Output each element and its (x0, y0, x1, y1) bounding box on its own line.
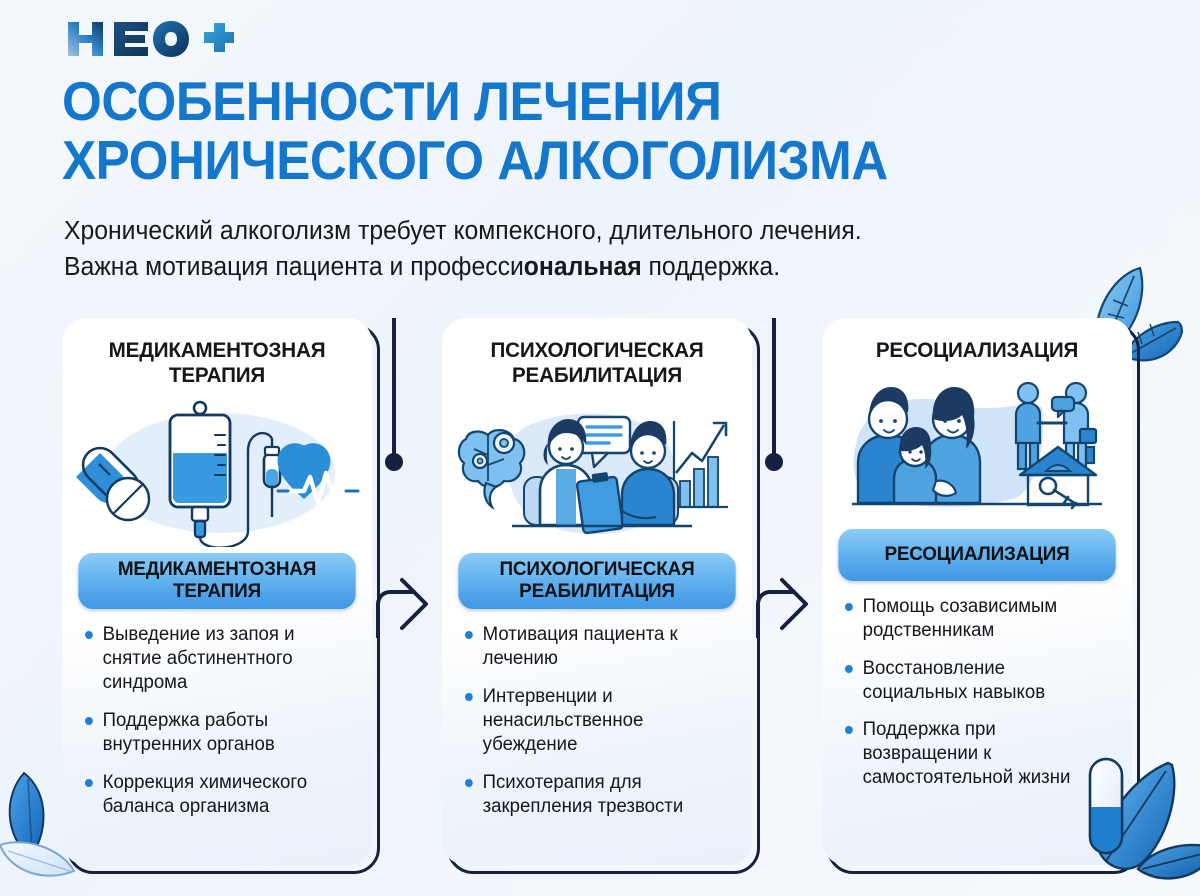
clipboard-icon (577, 472, 624, 534)
list-item: Мотивация пациента к лечению (463, 623, 730, 671)
neo-plus-logo-icon (64, 16, 234, 62)
growth-chart-icon (674, 421, 728, 507)
card-title: МЕДИКАМЕНТОЗНАЯ ТЕРАПИЯ (82, 338, 353, 387)
card-badge[interactable]: РЕСОЦИАЛИЗАЦИЯ (838, 529, 1115, 581)
stage-card-medication-therapy[interactable]: МЕДИКАМЕНТОЗНАЯ ТЕРАПИЯ (62, 318, 380, 874)
psychological-rehab-illustration (452, 395, 742, 547)
list-item: Восстановление социальных навыков (843, 657, 1110, 705)
card-title: ПСИХОЛОГИЧЕСКАЯ РЕАБИЛИТАЦИЯ (462, 338, 733, 387)
page-subtitle-line-1: Хронический алкоголизм требует компексно… (64, 217, 862, 245)
connector-endpoint-dot (385, 453, 403, 471)
list-item: Поддержка работы внутренних органов (83, 709, 350, 757)
card-badge[interactable]: ПСИХОЛОГИЧЕСКАЯ РЕАБИЛИТАЦИЯ (458, 553, 735, 609)
page-subtitle-line-2-post: поддержка. (642, 253, 780, 281)
connector-arrow-2-to-3 (752, 318, 826, 643)
treatment-stages-row: МЕДИКАМЕНТОЗНАЯ ТЕРАПИЯ (0, 318, 1200, 878)
stage-card-psychological-rehabilitation[interactable]: ПСИХОЛОГИЧЕСКАЯ РЕАБИЛИТАЦИЯ (442, 318, 760, 874)
stage-card-resocialization[interactable]: РЕСОЦИАЛИЗАЦИЯ (822, 318, 1140, 874)
card-bullet-list: Помощь созависимым родственникам Восстан… (839, 595, 1115, 805)
round-tablet-icon (107, 478, 149, 520)
list-item: Выведение из запоя и снятие абстинентног… (83, 623, 350, 695)
card-badge[interactable]: МЕДИКАМЕНТОЗНАЯ ТЕРАПИЯ (78, 553, 355, 609)
list-item: Поддержка при возвращении к самостоятель… (843, 718, 1110, 790)
brand-logo[interactable] (64, 16, 234, 62)
card-bullet-list: Мотивация пациента к лечению Интервенции… (459, 623, 735, 833)
list-item: Психотерапия для закрепления трезвости (463, 771, 730, 819)
page-subtitle-line-2-bold: ональная (524, 253, 642, 281)
page-subtitle: Хронический алкоголизм требует компексно… (64, 213, 1092, 285)
list-item: Интервенции и ненасильственное убеждение (463, 685, 730, 757)
medication-therapy-illustration (72, 395, 362, 547)
card-title: РЕСОЦИАЛИЗАЦИЯ (842, 338, 1113, 363)
connector-endpoint-dot (765, 453, 783, 471)
page-subtitle-line-2-pre: Важна мотивация пациента и професси (64, 253, 524, 281)
card-bullet-list: Выведение из запоя и снятие абстинентног… (79, 623, 355, 833)
list-item: Помощь созависимым родственникам (843, 595, 1110, 643)
page-title: ОСОБЕННОСТИ ЛЕЧЕНИЯ ХРОНИЧЕСКОГО АЛКОГОЛ… (62, 72, 1076, 191)
page-title-line-2: ХРОНИЧЕСКОГО АЛКОГОЛИЗМА (62, 131, 1076, 190)
drip-chamber-icon (264, 447, 280, 487)
page-title-line-1: ОСОБЕННОСТИ ЛЕЧЕНИЯ (62, 72, 1076, 131)
list-item: Коррекция химического баланса организма (83, 771, 350, 819)
resocialization-illustration (832, 371, 1122, 523)
connector-arrow-1-to-2 (372, 318, 446, 643)
